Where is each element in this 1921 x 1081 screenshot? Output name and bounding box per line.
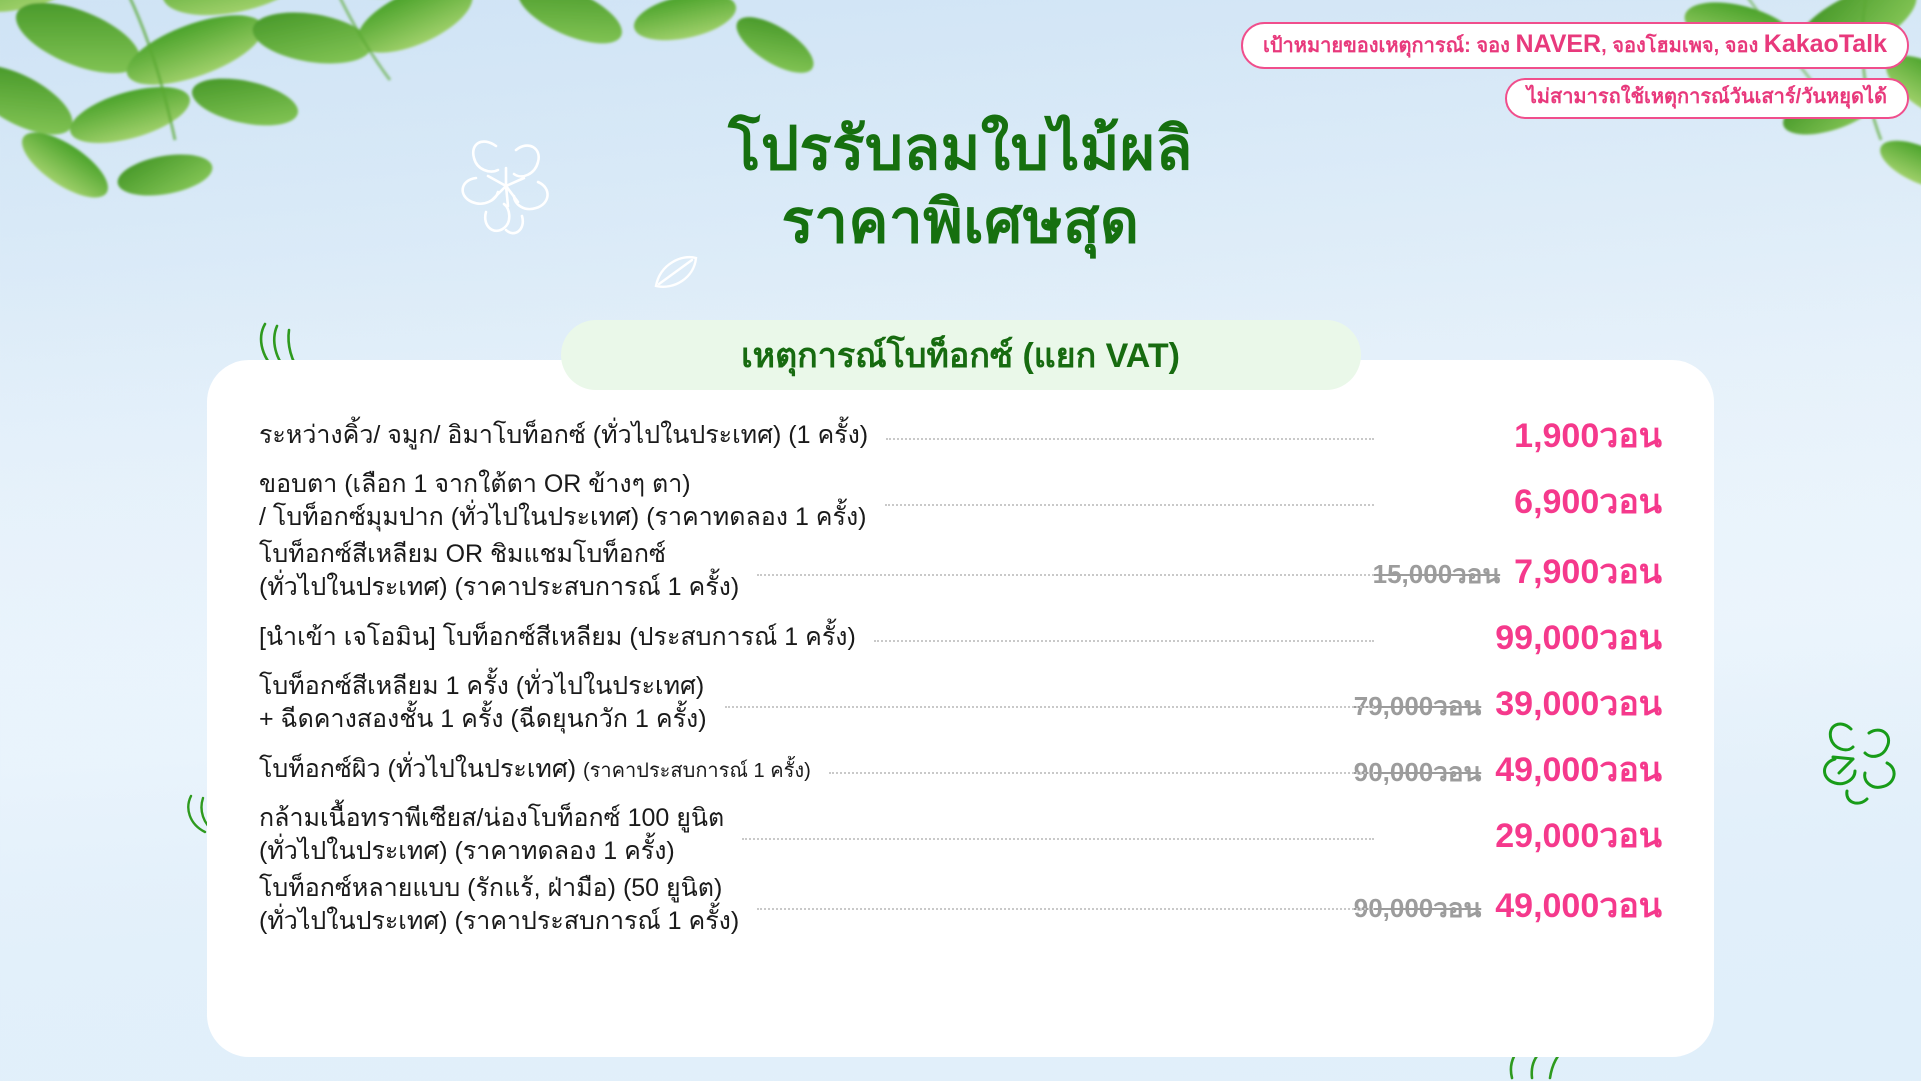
price-zone: 90,000วอน49,000วอน [1392,878,1662,932]
page-title: โปรรับลมใบไม้ผลิ ราคาพิเศษสุด [0,112,1921,258]
leader-dots [742,838,1374,840]
price-zone: 15,000วอน7,900วอน [1392,544,1662,598]
badge-naver-text: NAVER [1515,30,1601,58]
section-header-pill: เหตุการณ์โบท็อกซ์ (แยก VAT) [561,320,1361,390]
price-current: 6,900วอน [1514,474,1662,528]
price-original: 15,000วอน [1373,554,1501,595]
price-row: [นำเข้า เจโอมิน] โบท็อกซ์สีเหลียม (ประสบ… [259,606,1662,668]
price-zone: 79,000วอน39,000วอน [1392,676,1662,730]
price-row: ขอบตา (เลือก 1 จากใต้ตา OR ข้างๆ ตา) / โ… [259,466,1662,536]
price-row-label: โบท็อกซ์สีเหลียม 1 ครั้ง (ทั่วไปในประเทศ… [259,670,707,736]
page-title-line-2: ราคาพิเศษสุด [0,185,1921,258]
price-row-label: ขอบตา (เลือก 1 จากใต้ตา OR ข้างๆ ตา) / โ… [259,468,867,534]
leader-dots [757,908,1374,910]
price-row-label: [นำเข้า เจโอมิน] โบท็อกซ์สีเหลียม (ประสบ… [259,621,856,654]
price-row-label: โบท็อกซ์ผิว (ทั่วไปในประเทศ) (ราคาประสบก… [259,753,811,786]
price-zone: 1,900วอน [1392,408,1662,462]
weekend-restriction-badge: ไม่สามารถใช้เหตุการณ์วันเสาร์/วันหยุดได้ [1505,78,1909,119]
price-row: โบท็อกซ์สีเหลียม 1 ครั้ง (ทั่วไปในประเทศ… [259,668,1662,738]
price-row-label: กล้ามเนื้อทราพีเซียส/น่องโบท็อกซ์ 100 ยู… [259,802,724,868]
price-current: 49,000วอน [1495,742,1662,796]
price-current: 99,000วอน [1495,610,1662,664]
leader-dots [757,574,1374,576]
price-row-label: โบท็อกซ์สีเหลียม OR ชิมแชมโบท็อกซ์ (ทั่ว… [259,538,739,604]
price-current: 7,900วอน [1514,544,1662,598]
price-rows: ระหว่างคิ้ว/ จมูก/ อิมาโบท็อกซ์ (ทั่วไปใ… [259,404,1662,940]
price-row-label-note: (ราคาประสบการณ์ 1 ครั้ง) [583,760,811,782]
badge-kakaotalk-text: KakaoTalk [1764,30,1887,58]
weekend-restriction-text: ไม่สามารถใช้เหตุการณ์วันเสาร์/วันหยุดได้ [1527,86,1887,108]
price-row: โบท็อกซ์ผิว (ทั่วไปในประเทศ) (ราคาประสบก… [259,738,1662,800]
section-header-title: เหตุการณ์โบท็อกซ์ (แยก VAT) [741,328,1180,382]
price-row: โบท็อกซ์สีเหลียม OR ชิมแชมโบท็อกซ์ (ทั่ว… [259,536,1662,606]
leader-dots [885,504,1375,506]
leader-dots [829,772,1374,774]
price-row: ระหว่างคิ้ว/ จมูก/ อิมาโบท็อกซ์ (ทั่วไปใ… [259,404,1662,466]
price-current: 29,000วอน [1495,808,1662,862]
badge-mid-text: , จองโฮมเพจ, จอง [1601,35,1764,57]
price-row-label: โบท็อกซ์หลายแบบ (รักแร้, ฝ่ามือ) (50 ยูน… [259,872,739,938]
price-zone: 6,900วอน [1392,474,1662,528]
badge-group: เป้าหมายของเหตุการณ์: จอง NAVER, จองโฮมเ… [1241,22,1909,128]
leader-dots [886,438,1374,440]
price-zone: 90,000วอน49,000วอน [1392,742,1662,796]
price-zone: 29,000วอน [1392,808,1662,862]
price-zone: 99,000วอน [1392,610,1662,664]
leader-dots [725,706,1374,708]
price-current: 49,000วอน [1495,878,1662,932]
price-row: กล้ามเนื้อทราพีเซียส/น่องโบท็อกซ์ 100 ยู… [259,800,1662,870]
price-row-label: ระหว่างคิ้ว/ จมูก/ อิมาโบท็อกซ์ (ทั่วไปใ… [259,419,868,452]
badge-prefix-text: เป้าหมายของเหตุการณ์: จอง [1263,35,1515,57]
price-list-card: ระหว่างคิ้ว/ จมูก/ อิมาโบท็อกซ์ (ทั่วไปใ… [207,360,1714,1057]
event-target-badge: เป้าหมายของเหตุการณ์: จอง NAVER, จองโฮมเ… [1241,22,1909,69]
price-current: 39,000วอน [1495,676,1662,730]
price-row: โบท็อกซ์หลายแบบ (รักแร้, ฝ่ามือ) (50 ยูน… [259,870,1662,940]
leader-dots [874,640,1374,642]
price-current: 1,900วอน [1514,408,1662,462]
